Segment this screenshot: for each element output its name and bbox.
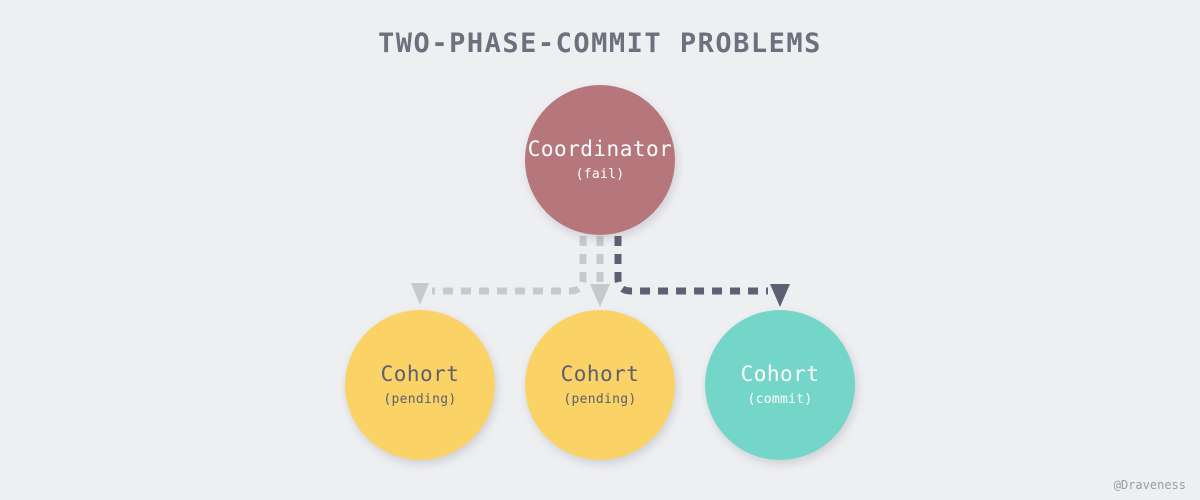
node-cohort-right[interactable]: Cohort (commit) (705, 310, 855, 460)
diagram-canvas: TWO-PHASE-COMMIT PROBLEMS Coordinator (f… (0, 0, 1200, 500)
node-coordinator-state: (fail) (576, 167, 625, 182)
node-cohort-right-label: Cohort (741, 363, 820, 386)
edge-coordinator-to-cohort-right (618, 236, 790, 307)
node-cohort-left-state: (pending) (383, 392, 456, 407)
node-cohort-middle-label: Cohort (561, 363, 640, 386)
node-coordinator-label: Coordinator (528, 138, 673, 161)
arrowhead-cohort-left (411, 283, 429, 305)
edge-coordinator-to-cohort-left (411, 236, 583, 305)
node-cohort-right-state: (commit) (747, 392, 812, 407)
arrowhead-cohort-middle (590, 284, 610, 307)
node-cohort-left[interactable]: Cohort (pending) (345, 310, 495, 460)
arrowhead-cohort-right (770, 284, 790, 307)
node-coordinator[interactable]: Coordinator (fail) (525, 85, 675, 235)
edge-coordinator-to-cohort-middle (590, 236, 610, 307)
node-cohort-middle-state: (pending) (563, 392, 636, 407)
node-cohort-middle[interactable]: Cohort (pending) (525, 310, 675, 460)
watermark: @Draveness (1114, 478, 1186, 492)
node-cohort-left-label: Cohort (381, 363, 460, 386)
